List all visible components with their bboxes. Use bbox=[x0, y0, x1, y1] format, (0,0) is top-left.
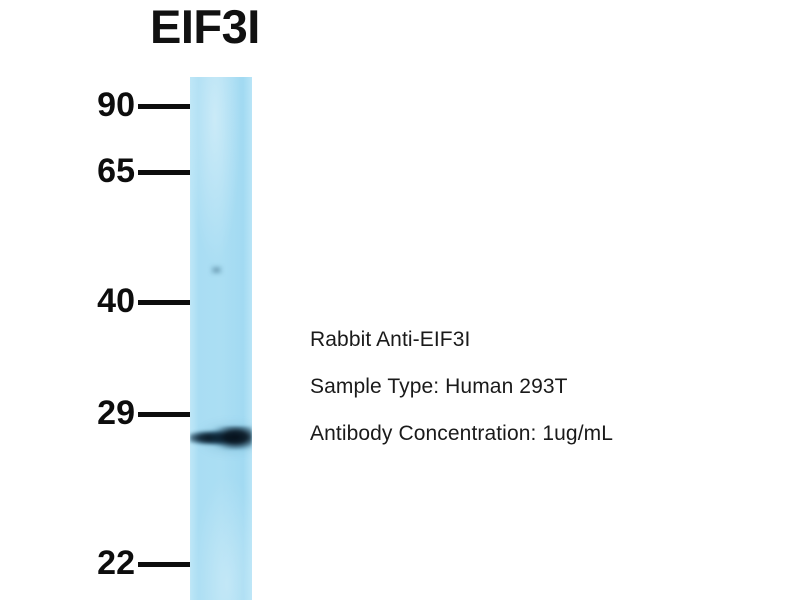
mw-label-29: 29 bbox=[97, 396, 135, 430]
band-core bbox=[190, 426, 252, 450]
faint-speck-band bbox=[210, 265, 223, 275]
gel-lane bbox=[190, 77, 252, 600]
annotation-sample-type: Sample Type: Human 293T bbox=[310, 363, 740, 410]
page-title: EIF3I bbox=[150, 2, 260, 52]
mw-label-40: 40 bbox=[97, 284, 135, 318]
protein-band-eif3i bbox=[190, 418, 252, 458]
mw-dash-icon bbox=[138, 412, 190, 417]
western-blot-figure: EIF3I 90 65 40 29 22 Rabbit Anti-EIF3I S… bbox=[0, 0, 800, 600]
mw-dash-icon bbox=[138, 170, 190, 175]
mw-marker-29: 29 bbox=[78, 395, 190, 431]
mw-marker-90: 90 bbox=[78, 87, 190, 123]
mw-label-22: 22 bbox=[97, 546, 135, 580]
mw-label-65: 65 bbox=[97, 154, 135, 188]
mw-marker-22: 22 bbox=[78, 545, 190, 581]
mw-label-90: 90 bbox=[97, 88, 135, 122]
annotation-concentration: Antibody Concentration: 1ug/mL bbox=[310, 410, 740, 457]
annotation-antibody: Rabbit Anti-EIF3I bbox=[310, 316, 740, 363]
mw-dash-icon bbox=[138, 562, 190, 567]
mw-marker-40: 40 bbox=[78, 283, 190, 319]
gel-lane-sheen bbox=[190, 77, 252, 600]
mw-marker-65: 65 bbox=[78, 153, 190, 189]
mw-dash-icon bbox=[138, 300, 190, 305]
mw-dash-icon bbox=[138, 104, 190, 109]
annotation-block: Rabbit Anti-EIF3I Sample Type: Human 293… bbox=[310, 316, 740, 457]
